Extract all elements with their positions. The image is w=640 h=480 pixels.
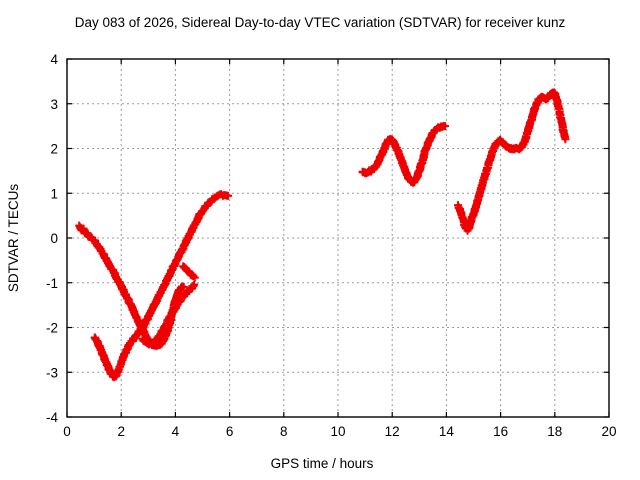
x-tick-label: 18 [547,424,562,439]
y-tick-label: 2 [50,142,58,157]
x-tick-label: 20 [601,424,616,439]
y-axis-label: SDTVAR / TECUs [6,184,21,293]
data-series-arc-6-dip-and-rise [454,88,569,234]
y-tick-label: -4 [46,410,58,425]
x-tick-label: 14 [439,424,455,439]
y-tick-label: -1 [46,276,58,291]
y-tick-label: -3 [46,365,58,380]
data-series-arc-2-v-shape [91,190,232,381]
x-tick-label: 0 [63,424,71,439]
y-tick-label: 0 [50,231,58,246]
x-tick-label: 12 [385,424,400,439]
x-tick-label: 6 [226,424,234,439]
x-tick-label: 8 [280,424,288,439]
chart-canvas: 02468101214161820-4-3-2-101234 GPS time … [0,0,640,480]
x-tick-label: 16 [493,424,508,439]
x-tick-label: 10 [330,424,345,439]
y-tick-label: 4 [50,52,58,67]
data-series-layer [75,88,569,380]
y-tick-label: -2 [46,321,58,336]
x-tick-label: 2 [117,424,125,439]
x-tick-label: 4 [172,424,180,439]
chart-root: Day 083 of 2026, Sidereal Day-to-day VTE… [0,0,640,480]
y-tick-label: 1 [50,186,58,201]
gridlines [67,59,609,417]
data-series-arc-4-morning-final [179,262,199,281]
y-tick-label: 3 [50,97,58,112]
data-series-arc-1-descending [75,222,188,350]
x-axis-label: GPS time / hours [271,456,374,471]
data-series-arc-5-afternoon-first [359,122,450,187]
